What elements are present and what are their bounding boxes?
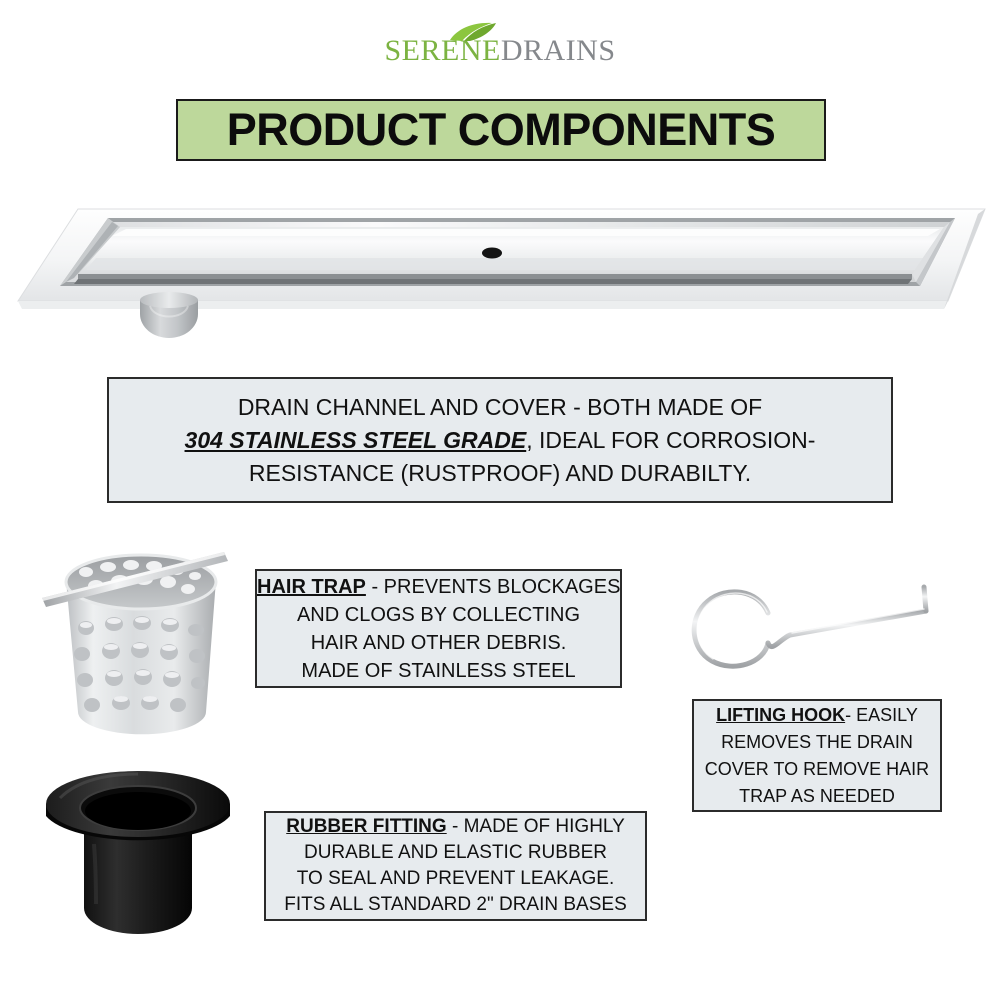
channel-line-1: DRAIN CHANNEL AND COVER - BOTH MADE OF xyxy=(109,391,891,424)
leaf-icon xyxy=(448,22,500,42)
page-title-banner: PRODUCT COMPONENTS xyxy=(176,99,826,161)
drain-channel-info-box: DRAIN CHANNEL AND COVER - BOTH MADE OF 3… xyxy=(107,377,893,503)
hair-trap-info-box: HAIR TRAP - PREVENTS BLOCKAGES AND CLOGS… xyxy=(255,569,622,688)
lifting-hook-line-2: REMOVES THE DRAIN xyxy=(694,729,940,756)
hair-trap-line-3: HAIR AND OTHER DEBRIS. xyxy=(257,629,620,657)
page-title: PRODUCT COMPONENTS xyxy=(227,104,776,156)
lifting-hook-line-1: LIFTING HOOK- EASILY xyxy=(694,702,940,729)
channel-line-2: 304 STAINLESS STEEL GRADE, IDEAL FOR COR… xyxy=(109,424,891,457)
lifting-hook-label: LIFTING HOOK xyxy=(716,705,845,725)
logo-drains-text: DRAINS xyxy=(501,34,616,67)
product-components-infographic: SERENEDRAINS PRODUCT COMPONENTS xyxy=(0,0,1000,1000)
linear-drain-figure xyxy=(0,196,1000,356)
lifting-hook-line-4: TRAP AS NEEDED xyxy=(694,783,940,810)
rubber-fitting-line-1: RUBBER FITTING - MADE OF HIGHLY xyxy=(266,814,645,840)
drain-hole xyxy=(482,248,502,259)
rubber-fitting-line-1-rest: - MADE OF HIGHLY xyxy=(447,816,625,837)
hair-trap-label: HAIR TRAP xyxy=(257,576,366,598)
stainless-steel-grade-emphasis: 304 STAINLESS STEEL GRADE xyxy=(185,427,527,453)
channel-line-2-rest: , IDEAL FOR CORROSION- xyxy=(526,427,815,453)
rubber-fitting-label: RUBBER FITTING xyxy=(286,816,446,837)
rubber-fitting-line-4: FITS ALL STANDARD 2" DRAIN BASES xyxy=(266,892,645,918)
hair-trap-line-4: MADE OF STAINLESS STEEL xyxy=(257,657,620,685)
hair-trap-line-1-rest: - PREVENTS BLOCKAGES xyxy=(366,576,621,598)
lifting-hook-line-1-rest: - EASILY xyxy=(845,705,918,725)
rubber-fitting-figure xyxy=(38,758,258,948)
hair-trap-line-2: AND CLOGS BY COLLECTING xyxy=(257,601,620,629)
brand-logo: SERENEDRAINS xyxy=(0,36,1000,66)
channel-line-3: RESISTANCE (RUSTPROOF) AND DURABILTY. xyxy=(109,457,891,490)
hair-trap-line-1: HAIR TRAP - PREVENTS BLOCKAGES xyxy=(257,573,620,601)
rubber-fitting-line-3: TO SEAL AND PREVENT LEAKAGE. xyxy=(266,866,645,892)
lifting-hook-info-box: LIFTING HOOK- EASILY REMOVES THE DRAIN C… xyxy=(692,699,942,812)
lifting-hook-line-3: COVER TO REMOVE HAIR xyxy=(694,756,940,783)
rubber-fitting-info-box: RUBBER FITTING - MADE OF HIGHLY DURABLE … xyxy=(264,811,647,921)
hair-trap-figure xyxy=(38,536,253,746)
rubber-fitting-line-2: DURABLE AND ELASTIC RUBBER xyxy=(266,840,645,866)
lifting-hook-figure xyxy=(672,573,952,683)
